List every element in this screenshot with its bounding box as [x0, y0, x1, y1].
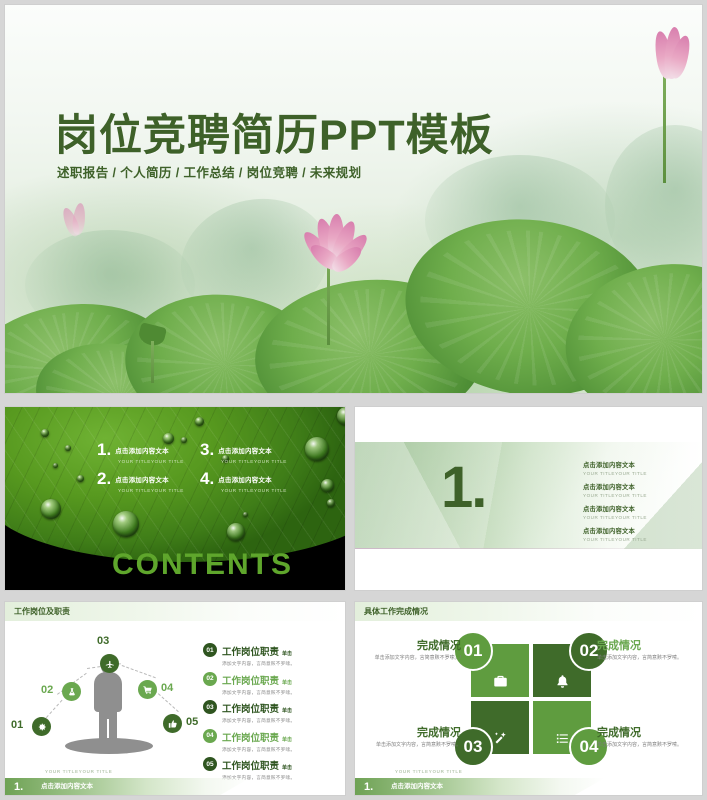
- list-item-desc: 添加文字内容，言简意赅不罗嗦。: [222, 747, 295, 753]
- hero-slide[interactable]: 岗位竞聘简历PPT模板 述职报告 / 个人简历 / 工作总结 / 岗位竞聘 / …: [4, 4, 703, 394]
- list-item-badge: 01: [203, 643, 217, 657]
- node-icon-thumbs-up[interactable]: [163, 714, 182, 733]
- list-item-badge: 02: [203, 672, 217, 686]
- duties-list: 01 工作岗位职责单击 添加文字内容，言简意赅不罗嗦。 02 工作岗位职责单击 …: [203, 642, 343, 785]
- contents-item-number: 2.: [97, 470, 111, 487]
- contents-item[interactable]: 4.点击添加内容文本 YOUR TITLEYOUR TITLE: [200, 469, 287, 493]
- contents-item-title: 点击添加内容文本: [218, 477, 272, 484]
- list-item-badge: 04: [203, 729, 217, 743]
- contents-item-number: 3.: [200, 441, 214, 458]
- divider-item-subtitle: YOUR TITLEYOUR TITLE: [583, 471, 693, 476]
- node-label-03: 03: [97, 635, 109, 647]
- footer-number: 1.: [364, 781, 373, 793]
- quadrant-body: 单击添加文字内容，言简意赅不罗嗦。/: [354, 655, 461, 663]
- list-item[interactable]: 04 工作岗位职责单击 添加文字内容，言简意赅不罗嗦。: [203, 728, 343, 753]
- list-item-title: 工作岗位职责: [222, 733, 279, 744]
- list-item-title: 工作岗位职责: [222, 704, 279, 715]
- list-item-badge: 03: [203, 700, 217, 714]
- slide-title: 具体工作完成情况: [364, 606, 428, 617]
- node-label-02: 02: [41, 684, 53, 696]
- slide-footer-bar: 1. 点击添加内容文本: [5, 778, 345, 795]
- contents-item[interactable]: 3.点击添加内容文本 YOUR TITLEYOUR TITLE: [200, 440, 287, 464]
- divider-item-title: 点击添加内容文本: [583, 504, 693, 513]
- node-label-04: 04: [161, 682, 173, 694]
- slide-footer-bar: 1. 点击添加内容文本: [355, 778, 702, 795]
- divider-item[interactable]: 点击添加内容文本 YOUR TITLEYOUR TITLE: [583, 526, 693, 542]
- quadrant-body: 单击添加文字内容，言简意赅不罗嗦。: [597, 655, 703, 663]
- node-icon-cart[interactable]: [138, 680, 157, 699]
- contents-item[interactable]: 2.点击添加内容文本 YOUR TITLEYOUR TITLE: [97, 469, 184, 493]
- list-icon: [555, 731, 570, 746]
- list-item-title: 工作岗位职责: [222, 647, 279, 658]
- node-icon-flask[interactable]: [62, 682, 81, 701]
- footer-number: 1.: [14, 781, 23, 793]
- quadrant-body: 单击添加文字内容，言简意赅不罗嗦。: [597, 742, 703, 750]
- divider-item-subtitle: YOUR TITLEYOUR TITLE: [583, 493, 693, 498]
- list-item-badge: 05: [203, 757, 217, 771]
- node-icon-gear[interactable]: [32, 717, 51, 736]
- quadrant-heading: 完成情况: [597, 640, 703, 652]
- contents-item-title: 点击添加内容文本: [115, 477, 169, 484]
- section-divider-slide[interactable]: 1. 点击添加内容文本 YOUR TITLEYOUR TITLE 点击添加内容文…: [354, 406, 703, 591]
- slide-header-bar: 工作岗位及职责: [5, 602, 345, 621]
- bell-icon: [555, 674, 570, 689]
- duties-slide[interactable]: 工作岗位及职责 01 02 03 04 05: [4, 601, 346, 796]
- quadrant-caption-03: 完成情况 单击添加文字内容，言简意赅不罗嗦。: [354, 727, 461, 750]
- list-item-title: 工作岗位职责: [222, 761, 279, 772]
- node-label-01: 01: [11, 719, 23, 731]
- divider-item-subtitle: YOUR TITLEYOUR TITLE: [583, 537, 693, 542]
- connector-line: [122, 665, 156, 678]
- your-title-caption: YOUR TITLEYOUR TITLE: [45, 769, 113, 774]
- list-item-suffix: 单击: [282, 737, 292, 743]
- footer-text: 点击添加内容文本: [41, 780, 93, 790]
- contents-item[interactable]: 1.点击添加内容文本 YOUR TITLEYOUR TITLE: [97, 440, 184, 464]
- list-item-suffix: 单击: [282, 651, 292, 657]
- contents-item-number: 1.: [97, 441, 111, 458]
- slide-header-bar: 具体工作完成情况: [355, 602, 702, 621]
- magic-wand-icon: [493, 731, 508, 746]
- hero-subtitle: 述职报告 / 个人简历 / 工作总结 / 岗位竞聘 / 未来规划: [57, 162, 361, 181]
- quadrant-heading: 完成情况: [354, 640, 461, 652]
- page-title: 岗位竞聘简历PPT模板: [55, 101, 494, 163]
- list-item-desc: 添加文字内容，言简意赅不罗嗦。: [222, 718, 295, 724]
- slide-deck-preview: 岗位竞聘简历PPT模板 述职报告 / 个人简历 / 工作总结 / 岗位竞聘 / …: [0, 0, 707, 800]
- your-title-caption: YOUR TITLEYOUR TITLE: [395, 769, 463, 774]
- list-item[interactable]: 02 工作岗位职责单击 添加文字内容，言简意赅不罗嗦。: [203, 671, 343, 696]
- list-item-suffix: 单击: [282, 765, 292, 771]
- divider-item[interactable]: 点击添加内容文本 YOUR TITLEYOUR TITLE: [583, 460, 693, 476]
- quadrant-caption-01: 完成情况 单击添加文字内容，言简意赅不罗嗦。/: [354, 640, 461, 663]
- contents-item-number: 4.: [200, 470, 214, 487]
- node-icon-airplane[interactable]: [100, 654, 119, 673]
- quadrant-diagram: 01 02 03 04: [471, 644, 591, 754]
- contents-item-title: 点击添加内容文本: [115, 448, 169, 455]
- person-shadow: [65, 738, 153, 754]
- list-item-desc: 添加文字内容，言简意赅不罗嗦。: [222, 661, 295, 667]
- node-label-05: 05: [186, 716, 198, 728]
- completion-slide[interactable]: 具体工作完成情况 01 02 03 04 完成情况 单击添加文字内容，言简意赅不…: [354, 601, 703, 796]
- contents-item-subtitle: YOUR TITLEYOUR TITLE: [221, 459, 287, 464]
- list-item-suffix: 单击: [282, 708, 292, 714]
- slide-title: 工作岗位及职责: [14, 606, 70, 617]
- list-item-desc: 添加文字内容，言简意赅不罗嗦。: [222, 690, 295, 696]
- list-item[interactable]: 03 工作岗位职责单击 添加文字内容，言简意赅不罗嗦。: [203, 699, 343, 724]
- section-number: 1.: [441, 459, 485, 517]
- briefcase-icon: [493, 674, 508, 689]
- divider-item-title: 点击添加内容文本: [583, 460, 693, 469]
- contents-item-subtitle: YOUR TITLEYOUR TITLE: [118, 488, 184, 493]
- list-item[interactable]: 01 工作岗位职责单击 添加文字内容，言简意赅不罗嗦。: [203, 642, 343, 667]
- list-item-suffix: 单击: [282, 680, 292, 686]
- contents-heading: CONTENTS: [112, 548, 293, 582]
- divider-item-list: 点击添加内容文本 YOUR TITLEYOUR TITLE 点击添加内容文本 Y…: [583, 460, 693, 548]
- list-item-title: 工作岗位职责: [222, 676, 279, 687]
- quadrant-caption-02: 完成情况 单击添加文字内容，言简意赅不罗嗦。: [597, 640, 703, 663]
- contents-item-subtitle: YOUR TITLEYOUR TITLE: [118, 459, 184, 464]
- quadrant-caption-04: 完成情况 单击添加文字内容，言简意赅不罗嗦。: [597, 727, 703, 750]
- divider-item[interactable]: 点击添加内容文本 YOUR TITLEYOUR TITLE: [583, 504, 693, 520]
- contents-item-title: 点击添加内容文本: [218, 448, 272, 455]
- divider-item[interactable]: 点击添加内容文本 YOUR TITLEYOUR TITLE: [583, 482, 693, 498]
- divider-item-subtitle: YOUR TITLEYOUR TITLE: [583, 515, 693, 520]
- divider-item-title: 点击添加内容文本: [583, 526, 693, 535]
- footer-text: 点击添加内容文本: [391, 780, 443, 790]
- lotus-pod-stem: [151, 341, 154, 383]
- quadrant-heading: 完成情况: [597, 727, 703, 739]
- divider-item-title: 点击添加内容文本: [583, 482, 693, 491]
- quadrant-body: 单击添加文字内容，言简意赅不罗嗦。: [354, 742, 461, 750]
- contents-item-subtitle: YOUR TITLEYOUR TITLE: [221, 488, 287, 493]
- quadrant-heading: 完成情况: [354, 727, 461, 739]
